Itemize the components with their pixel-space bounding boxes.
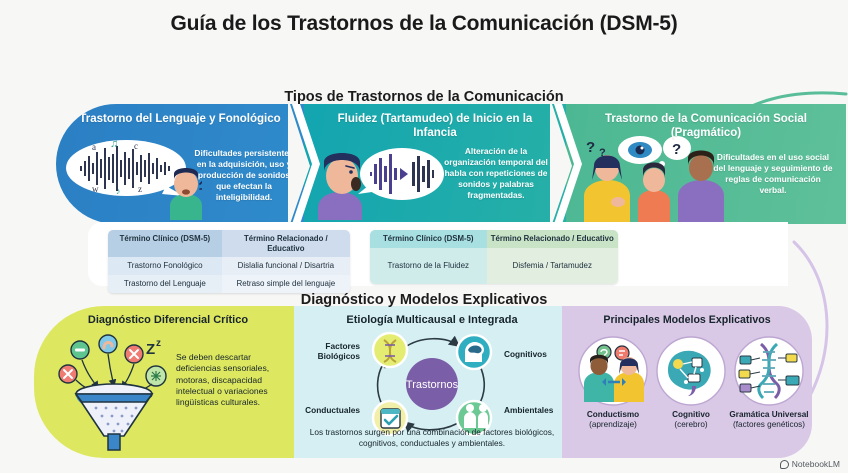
table-cell: Trastorno Fonológico: [108, 257, 222, 275]
svg-text:♪: ♪: [116, 186, 121, 196]
table-row: Trastorno del Lenguaje Retraso simple de…: [108, 275, 350, 293]
etiology-card[interactable]: Etiología Multicausal e Integrada Factor…: [294, 306, 570, 458]
table-header-cell: Término Clínico (DSM-5): [108, 230, 222, 257]
card-title: Diagnóstico Diferencial Crítico: [34, 314, 302, 326]
etiology-center-label: Trastornos: [406, 379, 459, 391]
etiology-node-label-cognitivos: Cognitivos: [504, 350, 566, 360]
watermark: NotebookLM: [780, 459, 840, 469]
svg-text:a: a: [92, 142, 96, 152]
svg-text:c: c: [134, 141, 138, 151]
model-caption-gramatica-universal: Gramática Universal (factores genéticos): [720, 410, 812, 430]
svg-text:z: z: [156, 338, 161, 349]
disorder-panel-title: Trastorno del Lenguaje y Fonológico: [56, 112, 304, 126]
diagnosis-section-title: Diagnóstico y Modelos Explicativos: [0, 292, 848, 308]
svg-text:z: z: [138, 184, 142, 194]
table-header-cell: Término Relacionado / Educativo: [487, 230, 618, 248]
disorder-types-banner: Trastorno del Lenguaje y Fonológico Difi…: [56, 104, 846, 224]
table-row: Trastorno de la Fluidez Disfemia / Tarta…: [370, 248, 618, 284]
page-title: Guía de los Trastornos de la Comunicació…: [0, 12, 848, 36]
three-people-question-marks-icon: ? ? ?: [582, 130, 726, 222]
model-name: Conductismo: [587, 410, 639, 419]
table-header-row: Término Clínico (DSM-5) Término Relacion…: [370, 230, 618, 248]
disorder-panel-social-pragmatic[interactable]: Trastorno de la Comunicación Social (Pra…: [566, 104, 846, 224]
model-name: Gramática Universal: [729, 410, 808, 419]
disorder-panel-title: Fluidez (Tartamudeo) de Inicio en la Inf…: [304, 112, 566, 141]
svg-text:Z: Z: [146, 341, 155, 358]
table-cell: Retraso simple del lenguaje: [222, 275, 350, 293]
model-detail: (factores genéticos): [733, 420, 805, 429]
two-people-talking-icon: [578, 336, 648, 406]
etiology-footer-text: Los trastornos surgen por una combinació…: [302, 427, 562, 449]
disorder-panel-language-phonological[interactable]: Trastorno del Lenguaje y Fonológico Difi…: [56, 104, 304, 224]
etiology-cycle-diagram: Trastornos: [358, 330, 508, 438]
svg-text:?: ?: [672, 141, 681, 158]
table-header-cell: Término Relacionado / Educativo: [222, 230, 350, 257]
model-name: Cognitivo: [672, 410, 710, 419]
disorder-panel-fluency[interactable]: Fluidez (Tartamudeo) de Inicio en la Inf…: [304, 104, 566, 224]
svg-text:w: w: [92, 184, 99, 194]
funnel-filter-icon: Z z: [58, 332, 180, 452]
disorder-panel-description: Dificultades en el uso social del lengua…: [712, 152, 834, 196]
notebooklm-logo-icon: [780, 460, 789, 469]
etiology-node-label-ambientales: Ambientales: [504, 406, 566, 416]
table-cell: Disfemia / Tartamudez: [487, 248, 618, 284]
card-title: Etiología Multicausal e Integrada: [294, 314, 570, 326]
terminology-table-fluency: Término Clínico (DSM-5) Término Relacion…: [370, 230, 618, 284]
speech-bubble-waveform-boy-icon: a ♫ c w ♪ z: [62, 134, 202, 220]
stuttering-boy-waveform-icon: [316, 134, 446, 220]
etiology-node-label-biologicos: Factores Biológicos: [302, 342, 360, 362]
disorder-panel-description: Dificultades persistentes en la adquisic…: [192, 148, 296, 203]
card-description: Se deben descartar deficiencias sensoria…: [176, 352, 292, 409]
terminology-band: Término Clínico (DSM-5) Término Relacion…: [88, 222, 788, 286]
explanatory-models-card[interactable]: Principales Modelos Explicativos: [562, 306, 812, 458]
table-cell: Trastorno del Lenguaje: [108, 275, 222, 293]
watermark-label: NotebookLM: [792, 459, 840, 469]
etiology-node-label-conductuales: Conductuales: [298, 406, 360, 416]
differential-diagnosis-card[interactable]: Diagnóstico Diferencial Crítico Se deben…: [34, 306, 302, 458]
disorder-panel-description: Alteración de la organización temporal d…: [438, 146, 554, 201]
table-row: Trastorno Fonológico Dislalia funcional …: [108, 257, 350, 275]
table-header-row: Término Clínico (DSM-5) Término Relacion…: [108, 230, 350, 257]
card-title: Principales Modelos Explicativos: [562, 314, 812, 326]
model-detail: (aprendizaje): [589, 420, 637, 429]
dna-helix-icon: [734, 336, 804, 406]
table-cell: Trastorno de la Fluidez: [370, 248, 487, 284]
brain-network-icon: [656, 336, 726, 406]
terminology-table-language: Término Clínico (DSM-5) Término Relacion…: [108, 230, 350, 293]
table-cell: Dislalia funcional / Disartria: [222, 257, 350, 275]
disorder-panel-title: Trastorno de la Comunicación Social (Pra…: [566, 112, 846, 141]
infographic-root: Guía de los Trastornos de la Comunicació…: [0, 0, 848, 473]
model-detail: (cerebro): [674, 420, 707, 429]
svg-text:♫: ♫: [110, 138, 118, 150]
svg-text:?: ?: [586, 139, 595, 156]
types-section-title: Tipos de Trastornos de la Comunicación: [0, 89, 848, 105]
table-header-cell: Término Clínico (DSM-5): [370, 230, 487, 248]
